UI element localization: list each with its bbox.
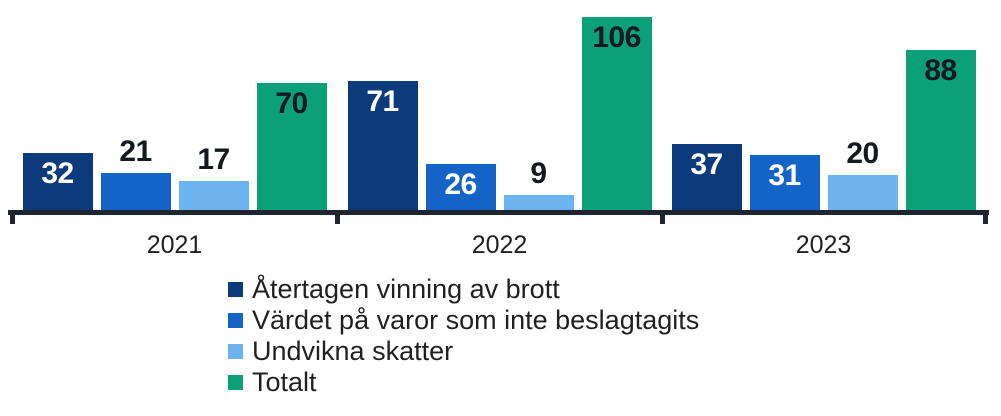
bar[interactable]: 32 (23, 153, 93, 212)
bar-value-label: 71 (348, 87, 418, 117)
bar-value-label: 20 (828, 139, 898, 169)
legend-label: Återtagen vinning av brott (252, 276, 560, 303)
bar[interactable]: 70 (257, 83, 327, 212)
bar-value-label: 70 (257, 89, 327, 119)
axis-tick (660, 210, 665, 224)
bar[interactable]: 37 (672, 144, 742, 212)
bar-value-label: 17 (179, 145, 249, 175)
axis-tick (983, 210, 988, 224)
bar-value-label: 9 (504, 159, 574, 189)
bar-value-label: 88 (906, 56, 976, 86)
bar[interactable]: 26 (426, 164, 496, 212)
bar-value-label: 31 (750, 161, 820, 191)
category-label-2021: 2021 (12, 233, 337, 258)
bar-value-label: 26 (426, 170, 496, 200)
legend-item[interactable]: Undvikna skatter (228, 336, 988, 367)
bar-chart: 322117707126910637312088 202120222023 Åt… (0, 0, 1001, 416)
legend-swatch-icon (228, 313, 243, 328)
bar-value-label: 37 (672, 150, 742, 180)
category-axis-line (8, 210, 989, 215)
plot-area: 322117707126910637312088 (0, 0, 1001, 216)
bar-value-label: 106 (582, 23, 652, 53)
axis-tick (335, 210, 340, 224)
axis-tick (10, 210, 15, 224)
bar[interactable]: 20 (828, 175, 898, 212)
category-label-2022: 2022 (337, 233, 662, 258)
legend-swatch-icon (228, 344, 243, 359)
legend-item[interactable]: Totalt (228, 367, 988, 398)
legend-swatch-icon (228, 282, 243, 297)
chart-legend: Återtagen vinning av brottVärdet på varo… (228, 274, 988, 398)
legend-item[interactable]: Värdet på varor som inte beslagtagits (228, 305, 988, 336)
legend-swatch-icon (228, 375, 243, 390)
legend-item[interactable]: Återtagen vinning av brott (228, 274, 988, 305)
bar[interactable]: 88 (906, 50, 976, 212)
legend-label: Totalt (252, 369, 317, 396)
bar-value-label: 21 (101, 137, 171, 167)
bar-value-label: 32 (23, 159, 93, 189)
legend-label: Värdet på varor som inte beslagtagits (252, 307, 699, 334)
bar[interactable]: 31 (750, 155, 820, 212)
legend-label: Undvikna skatter (252, 338, 453, 365)
bar[interactable]: 21 (101, 173, 171, 212)
bar[interactable]: 17 (179, 181, 249, 212)
category-label-2023: 2023 (662, 233, 985, 258)
bar[interactable]: 71 (348, 81, 418, 212)
bar[interactable]: 106 (582, 17, 652, 212)
